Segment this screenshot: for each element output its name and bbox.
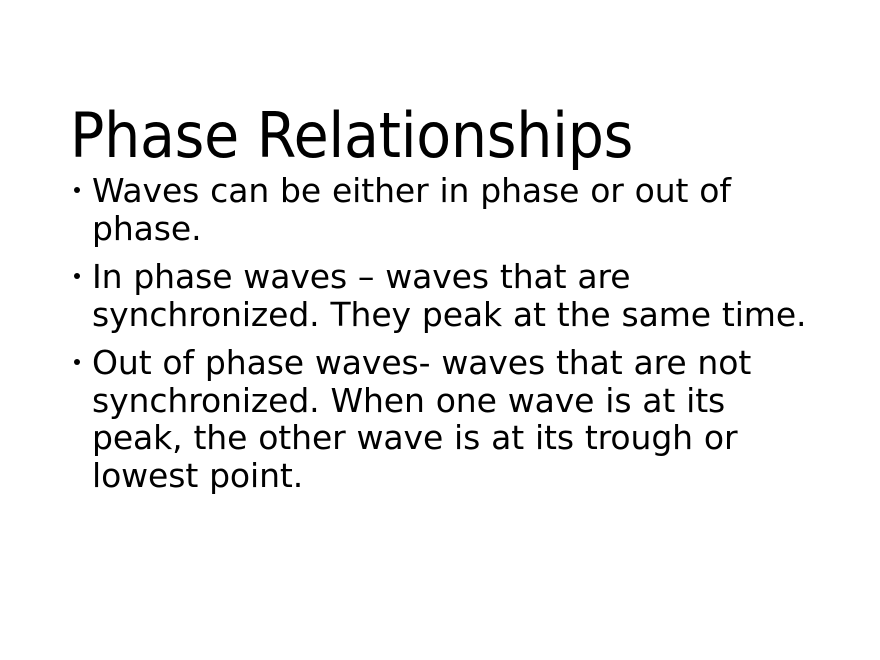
bullet-dot-icon (74, 187, 80, 193)
bullet-list: Waves can be either in phase or out of p… (70, 172, 810, 494)
list-item-text: Out of phase waves- waves that are not s… (92, 344, 810, 494)
list-item: Out of phase waves- waves that are not s… (70, 344, 810, 494)
list-item-text: In phase waves – waves that are synchron… (92, 258, 810, 333)
list-item: Waves can be either in phase or out of p… (70, 172, 810, 247)
page-title: Phase Relationships (70, 100, 769, 172)
bullet-dot-icon (74, 359, 80, 365)
list-item-text: Waves can be either in phase or out of p… (92, 172, 810, 247)
bullet-dot-icon (74, 273, 80, 279)
list-item: In phase waves – waves that are synchron… (70, 258, 810, 333)
presentation-slide: Phase Relationships Waves can be either … (0, 0, 880, 660)
